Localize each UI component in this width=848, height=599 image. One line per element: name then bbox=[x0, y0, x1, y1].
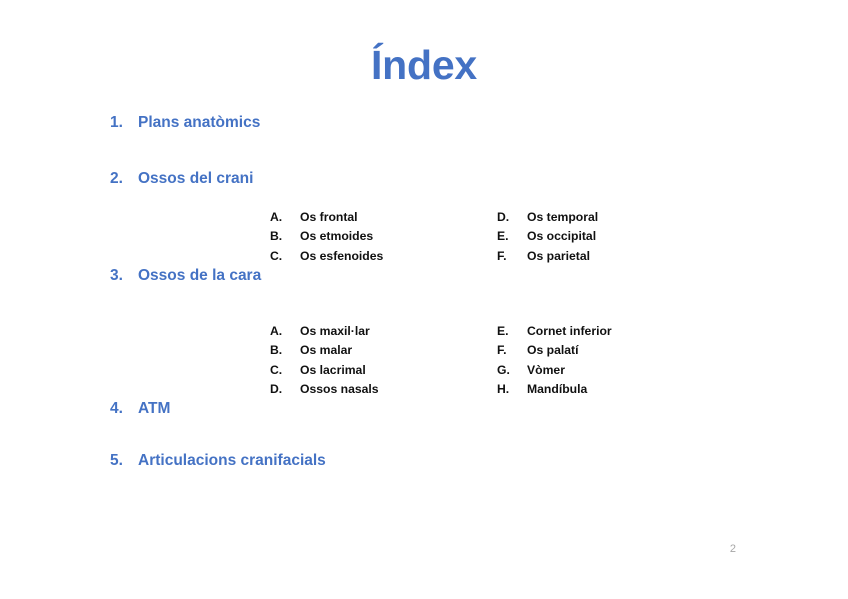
sub-item-label: Os etmoides bbox=[300, 229, 373, 243]
outline-item-number: 4. bbox=[110, 399, 123, 418]
outline-item-plans-anatomics[interactable]: 1. Plans anatòmics bbox=[110, 113, 730, 132]
list-item[interactable]: A. Os maxil·lar bbox=[270, 322, 379, 341]
sub-item-letter: B. bbox=[270, 341, 282, 360]
list-item[interactable]: D. Ossos nasals bbox=[270, 380, 379, 399]
page-title: Índex bbox=[0, 44, 848, 87]
subsection-column-left: A. Os maxil·lar B. Os malar C. Os lacrim… bbox=[270, 322, 379, 400]
sub-item-letter: E. bbox=[497, 322, 509, 341]
sub-item-label: Vòmer bbox=[527, 363, 565, 377]
sub-item-letter: F. bbox=[497, 341, 506, 360]
sub-item-letter: A. bbox=[270, 322, 282, 341]
list-item[interactable]: C. Os esfenoides bbox=[270, 247, 383, 266]
list-item[interactable]: C. Os lacrimal bbox=[270, 361, 379, 380]
outline-item-number: 5. bbox=[110, 451, 123, 470]
sub-item-letter: D. bbox=[497, 208, 509, 227]
list-item[interactable]: E. Cornet inferior bbox=[497, 322, 612, 341]
index-outline-list: 1. Plans anatòmics 2. Ossos del crani 3.… bbox=[110, 113, 730, 470]
outline-item-ossos-de-la-cara[interactable]: 3. Ossos de la cara bbox=[110, 266, 730, 285]
sub-item-letter: C. bbox=[270, 361, 282, 380]
list-item[interactable]: G. Vòmer bbox=[497, 361, 612, 380]
subsection-column-left: A. Os frontal B. Os etmoides C. Os esfen… bbox=[270, 208, 383, 266]
list-item[interactable]: A. Os frontal bbox=[270, 208, 383, 227]
outline-item-label: Ossos de la cara bbox=[138, 267, 261, 284]
sub-item-letter: B. bbox=[270, 227, 282, 246]
outline-item-label: Articulacions cranifacials bbox=[138, 452, 326, 469]
sub-item-letter: G. bbox=[497, 361, 510, 380]
list-item[interactable]: D. Os temporal bbox=[497, 208, 598, 227]
sub-item-label: Os occipital bbox=[527, 229, 596, 243]
sub-item-letter: F. bbox=[497, 247, 506, 266]
outline-item-number: 1. bbox=[110, 113, 123, 132]
sub-item-letter: C. bbox=[270, 247, 282, 266]
sub-item-label: Os esfenoides bbox=[300, 249, 383, 263]
outline-item-articulacions-cranifacials[interactable]: 5. Articulacions cranifacials bbox=[110, 451, 730, 470]
subsection-column-right: D. Os temporal E. Os occipital F. Os par… bbox=[497, 208, 598, 266]
sub-item-label: Os lacrimal bbox=[300, 363, 366, 377]
sub-item-label: Cornet inferior bbox=[527, 324, 612, 338]
list-item[interactable]: F. Os palatí bbox=[497, 341, 612, 360]
list-item[interactable]: B. Os etmoides bbox=[270, 227, 383, 246]
list-item[interactable]: H. Mandíbula bbox=[497, 380, 612, 399]
page-number: 2 bbox=[730, 543, 736, 555]
outline-item-number: 2. bbox=[110, 169, 123, 188]
list-item[interactable]: E. Os occipital bbox=[497, 227, 598, 246]
slide-canvas: Índex 1. Plans anatòmics 2. Ossos del cr… bbox=[0, 0, 848, 599]
list-item[interactable]: F. Os parietal bbox=[497, 247, 598, 266]
outline-item-label: Plans anatòmics bbox=[138, 114, 260, 131]
outline-item-number: 3. bbox=[110, 266, 123, 285]
sub-item-label: Os palatí bbox=[527, 343, 578, 357]
sub-item-label: Os parietal bbox=[527, 249, 590, 263]
outline-item-ossos-del-crani[interactable]: 2. Ossos del crani bbox=[110, 169, 730, 188]
sub-item-label: Os maxil·lar bbox=[300, 324, 370, 338]
subsection-column-right: E. Cornet inferior F. Os palatí G. Vòmer… bbox=[497, 322, 612, 400]
sub-item-letter: E. bbox=[497, 227, 509, 246]
sub-item-label: Os temporal bbox=[527, 210, 598, 224]
outline-item-atm[interactable]: 4. ATM bbox=[110, 399, 730, 418]
sub-item-label: Ossos nasals bbox=[300, 382, 379, 396]
sub-item-label: Os frontal bbox=[300, 210, 358, 224]
list-item[interactable]: B. Os malar bbox=[270, 341, 379, 360]
sub-item-label: Mandíbula bbox=[527, 382, 587, 396]
sub-item-letter: A. bbox=[270, 208, 282, 227]
sub-item-letter: H. bbox=[497, 380, 509, 399]
sub-item-label: Os malar bbox=[300, 343, 352, 357]
outline-item-label: ATM bbox=[138, 400, 170, 417]
outline-item-label: Ossos del crani bbox=[138, 170, 253, 187]
sub-item-letter: D. bbox=[270, 380, 282, 399]
